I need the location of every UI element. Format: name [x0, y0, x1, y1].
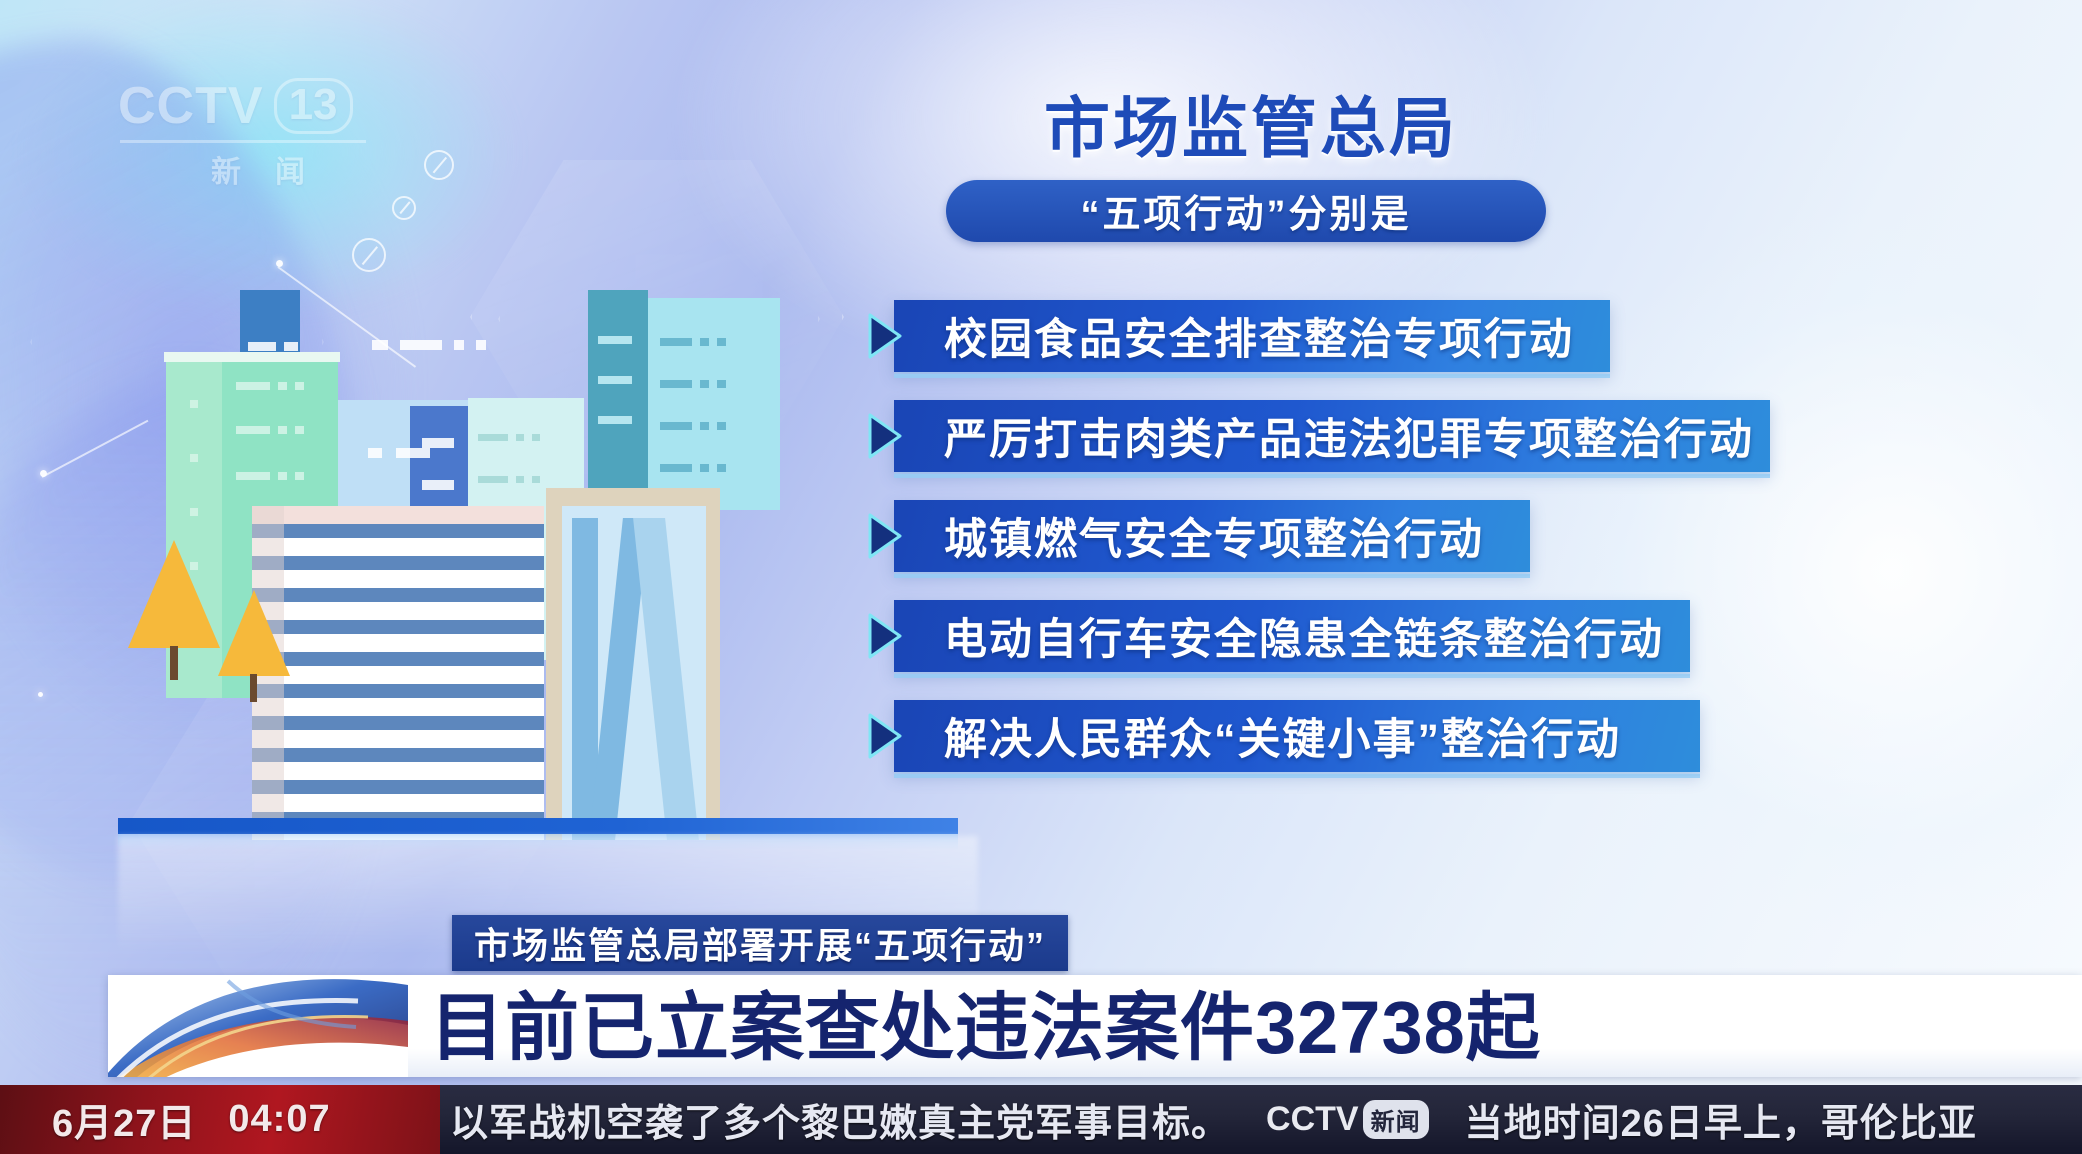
action-item[interactable]: 电动自行车安全隐患全链条整治行动	[862, 600, 2042, 672]
floating-window-row	[372, 340, 486, 350]
watermark-rule	[120, 140, 366, 143]
tree-right	[218, 590, 290, 676]
news-ticker: 6月27日 04:07 以军战机空袭了多个黎巴嫩真主党军事目标。 CCTV 新闻…	[0, 1085, 2082, 1154]
watermark-channel-number: 13	[274, 78, 353, 134]
action-label: 城镇燃气安全专项整治行动	[944, 505, 1484, 567]
ticker-item-1: 以军战机空袭了多个黎巴嫩真主党军事目标。	[450, 1092, 1230, 1147]
window-row	[478, 434, 540, 441]
watermark-cctv-text: CCTV	[118, 80, 264, 132]
window-row	[660, 422, 726, 430]
action-item[interactable]: 解决人民群众“关键小事”整治行动	[862, 700, 2042, 772]
floating-window-row	[368, 448, 430, 458]
window-row	[660, 338, 726, 346]
ground-bar	[118, 818, 958, 834]
subtitle-pill: “五项行动”分别是	[946, 180, 1546, 242]
cctv-news-logo: CCTV 新闻	[1266, 1100, 1429, 1139]
ticker-item-2: 当地时间26日早上，哥伦比亚	[1465, 1092, 1977, 1147]
ticker-content: 以军战机空袭了多个黎巴嫩真主党军事目标。 CCTV 新闻 当地时间26日早上，哥…	[440, 1085, 2082, 1154]
window-row	[236, 382, 304, 390]
action-item[interactable]: 严厉打击肉类产品违法犯罪专项整治行动	[862, 400, 2042, 472]
kicker-bar: 市场监管总局部署开展“五项行动”	[452, 915, 1068, 971]
building-striped-main	[252, 524, 544, 840]
watermark-sub-text: 新闻	[118, 147, 398, 191]
window-row	[248, 342, 298, 351]
action-item[interactable]: 城镇燃气安全专项整治行动	[862, 500, 2042, 572]
action-bar[interactable]: 解决人民群众“关键小事”整治行动	[894, 700, 1700, 772]
window-row	[478, 476, 540, 483]
window-row	[598, 336, 632, 424]
page-title: 市场监管总局	[946, 92, 1556, 166]
action-bar[interactable]: 校园食品安全排查整治专项行动	[894, 300, 1610, 372]
action-label: 电动自行车安全隐患全链条整治行动	[944, 605, 1664, 667]
window-row	[660, 380, 726, 388]
ticker-date: 6月27日	[52, 1092, 196, 1147]
tree-right-trunk	[250, 674, 257, 702]
action-bar[interactable]: 城镇燃气安全专项整治行动	[894, 500, 1530, 572]
channel-watermark: CCTV 13 新闻	[118, 78, 398, 198]
circle-decoration	[392, 196, 416, 220]
tree-left-trunk	[170, 646, 178, 680]
action-label: 校园食品安全排查整治专项行动	[944, 305, 1574, 367]
ticker-time: 04:07	[228, 1098, 330, 1141]
chevron-right-icon	[862, 511, 908, 561]
action-bar[interactable]: 电动自行车安全隐患全链条整治行动	[894, 600, 1690, 672]
sparkle-dot	[38, 692, 43, 697]
tree-left	[128, 540, 220, 648]
ticker-datetime: 6月27日 04:07	[0, 1085, 440, 1154]
action-label: 严厉打击肉类产品违法犯罪专项整治行动	[944, 405, 1754, 467]
broadcast-screen: CCTV 13 新闻	[0, 0, 2082, 1154]
building-teal-light	[648, 298, 780, 510]
window-row	[236, 426, 304, 434]
cctv-logo-badge: 新闻	[1363, 1100, 1429, 1139]
chevron-right-icon	[862, 311, 908, 361]
action-label: 解决人民群众“关键小事”整治行动	[944, 705, 1621, 767]
city-skyline-illustration	[110, 290, 810, 835]
chevron-right-icon	[862, 711, 908, 761]
action-list: 校园食品安全排查整治专项行动严厉打击肉类产品违法犯罪专项整治行动城镇燃气安全专项…	[862, 300, 2042, 800]
info-panel: 市场监管总局 “五项行动”分别是	[860, 92, 2020, 242]
cctv-logo-text: CCTV	[1266, 1100, 1359, 1139]
headline-swirl-graphic	[108, 975, 408, 1077]
action-item[interactable]: 校园食品安全排查整治专项行动	[862, 300, 2042, 372]
action-bar[interactable]: 严厉打击肉类产品违法犯罪专项整治行动	[894, 400, 1770, 472]
kicker-label: 市场监管总局部署开展“五项行动”	[474, 917, 1046, 969]
window-row	[660, 464, 726, 472]
chevron-right-icon	[862, 611, 908, 661]
subtitle-pill-label: “五项行动”分别是	[1080, 183, 1411, 238]
window-row	[236, 472, 304, 480]
headline-text: 目前已立案查处违法案件32738起	[430, 978, 1541, 1078]
swirl-icon	[108, 975, 408, 1077]
chevron-right-icon	[862, 411, 908, 461]
building-mint-cap	[164, 352, 340, 362]
circle-decoration	[352, 238, 386, 272]
building-striped-cap	[252, 506, 544, 524]
circle-decoration	[424, 150, 454, 180]
